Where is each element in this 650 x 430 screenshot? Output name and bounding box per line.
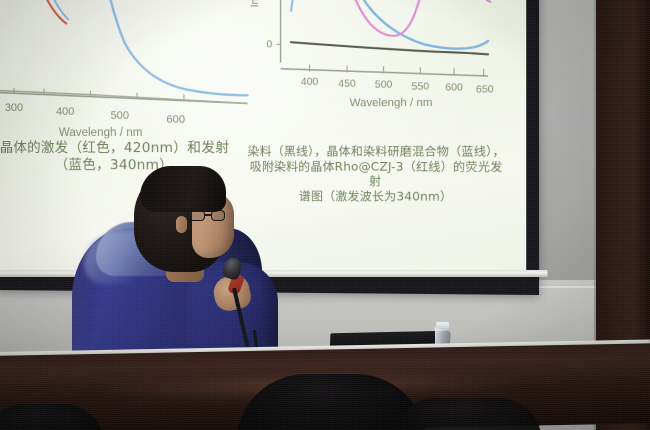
right-plot-ytick-0: 0	[267, 39, 273, 50]
right-plot-series-rho	[330, 0, 433, 36]
right-caption-line-3: 谱图（激发波长为340nm）	[245, 189, 507, 205]
right-plot-xtick-550: 550	[412, 81, 430, 92]
left-plot: 300 400 500 600 Wavelengh / nm	[0, 0, 266, 139]
right-plot-ylabel: Intensity	[250, 0, 261, 7]
left-plot-xlabel: Wavelengh / nm	[59, 127, 143, 139]
left-plot-series-emission-b	[99, 0, 248, 96]
left-plot-xtick-400: 400	[56, 106, 74, 118]
right-plot-xtick-400: 400	[301, 77, 319, 88]
right-plot-xtick-450: 450	[338, 79, 356, 90]
photo-scene: 300 400 500 600 Wavelengh / nm	[0, 0, 650, 430]
left-plot-xtick-300: 300	[5, 102, 23, 114]
right-plot-x-axis	[281, 68, 488, 77]
right-caption-line-1: 染料（黑线），晶体和染料研磨混合物（蓝线），	[245, 144, 507, 159]
water-bottle-cap[interactable]	[436, 322, 449, 329]
right-plot-xtick-500: 500	[375, 79, 393, 90]
speaker-ear	[176, 216, 187, 233]
projection-screen-frame: 300 400 500 600 Wavelengh / nm	[0, 0, 539, 295]
right-plot: 500 0 Intensity 400 450 500 550 600 650 …	[245, 0, 519, 140]
left-plot-xtick-500: 500	[110, 110, 129, 122]
right-plot-series-rho-tail	[454, 0, 490, 2]
glasses-icon	[211, 210, 225, 221]
left-plot-xtick-600: 600	[166, 114, 185, 126]
right-plot-xtick-650: 650	[476, 84, 494, 95]
projection-screen-surface: 300 400 500 600 Wavelengh / nm	[0, 0, 526, 276]
right-caption-line-2: 吸附染料的晶体Rho@CZJ-3（红线）的荧光发射	[245, 159, 507, 190]
right-plot-xtick-600: 600	[445, 82, 463, 93]
glasses-bridge	[205, 214, 211, 216]
speaker-hair	[140, 166, 226, 212]
right-slide-caption: 染料（黑线），晶体和染料研磨混合物（蓝线）， 吸附染料的晶体Rho@CZJ-3（…	[245, 144, 507, 205]
foreground-audience-head	[392, 398, 542, 430]
right-plot-xlabel: Wavelengh / nm	[350, 97, 433, 110]
